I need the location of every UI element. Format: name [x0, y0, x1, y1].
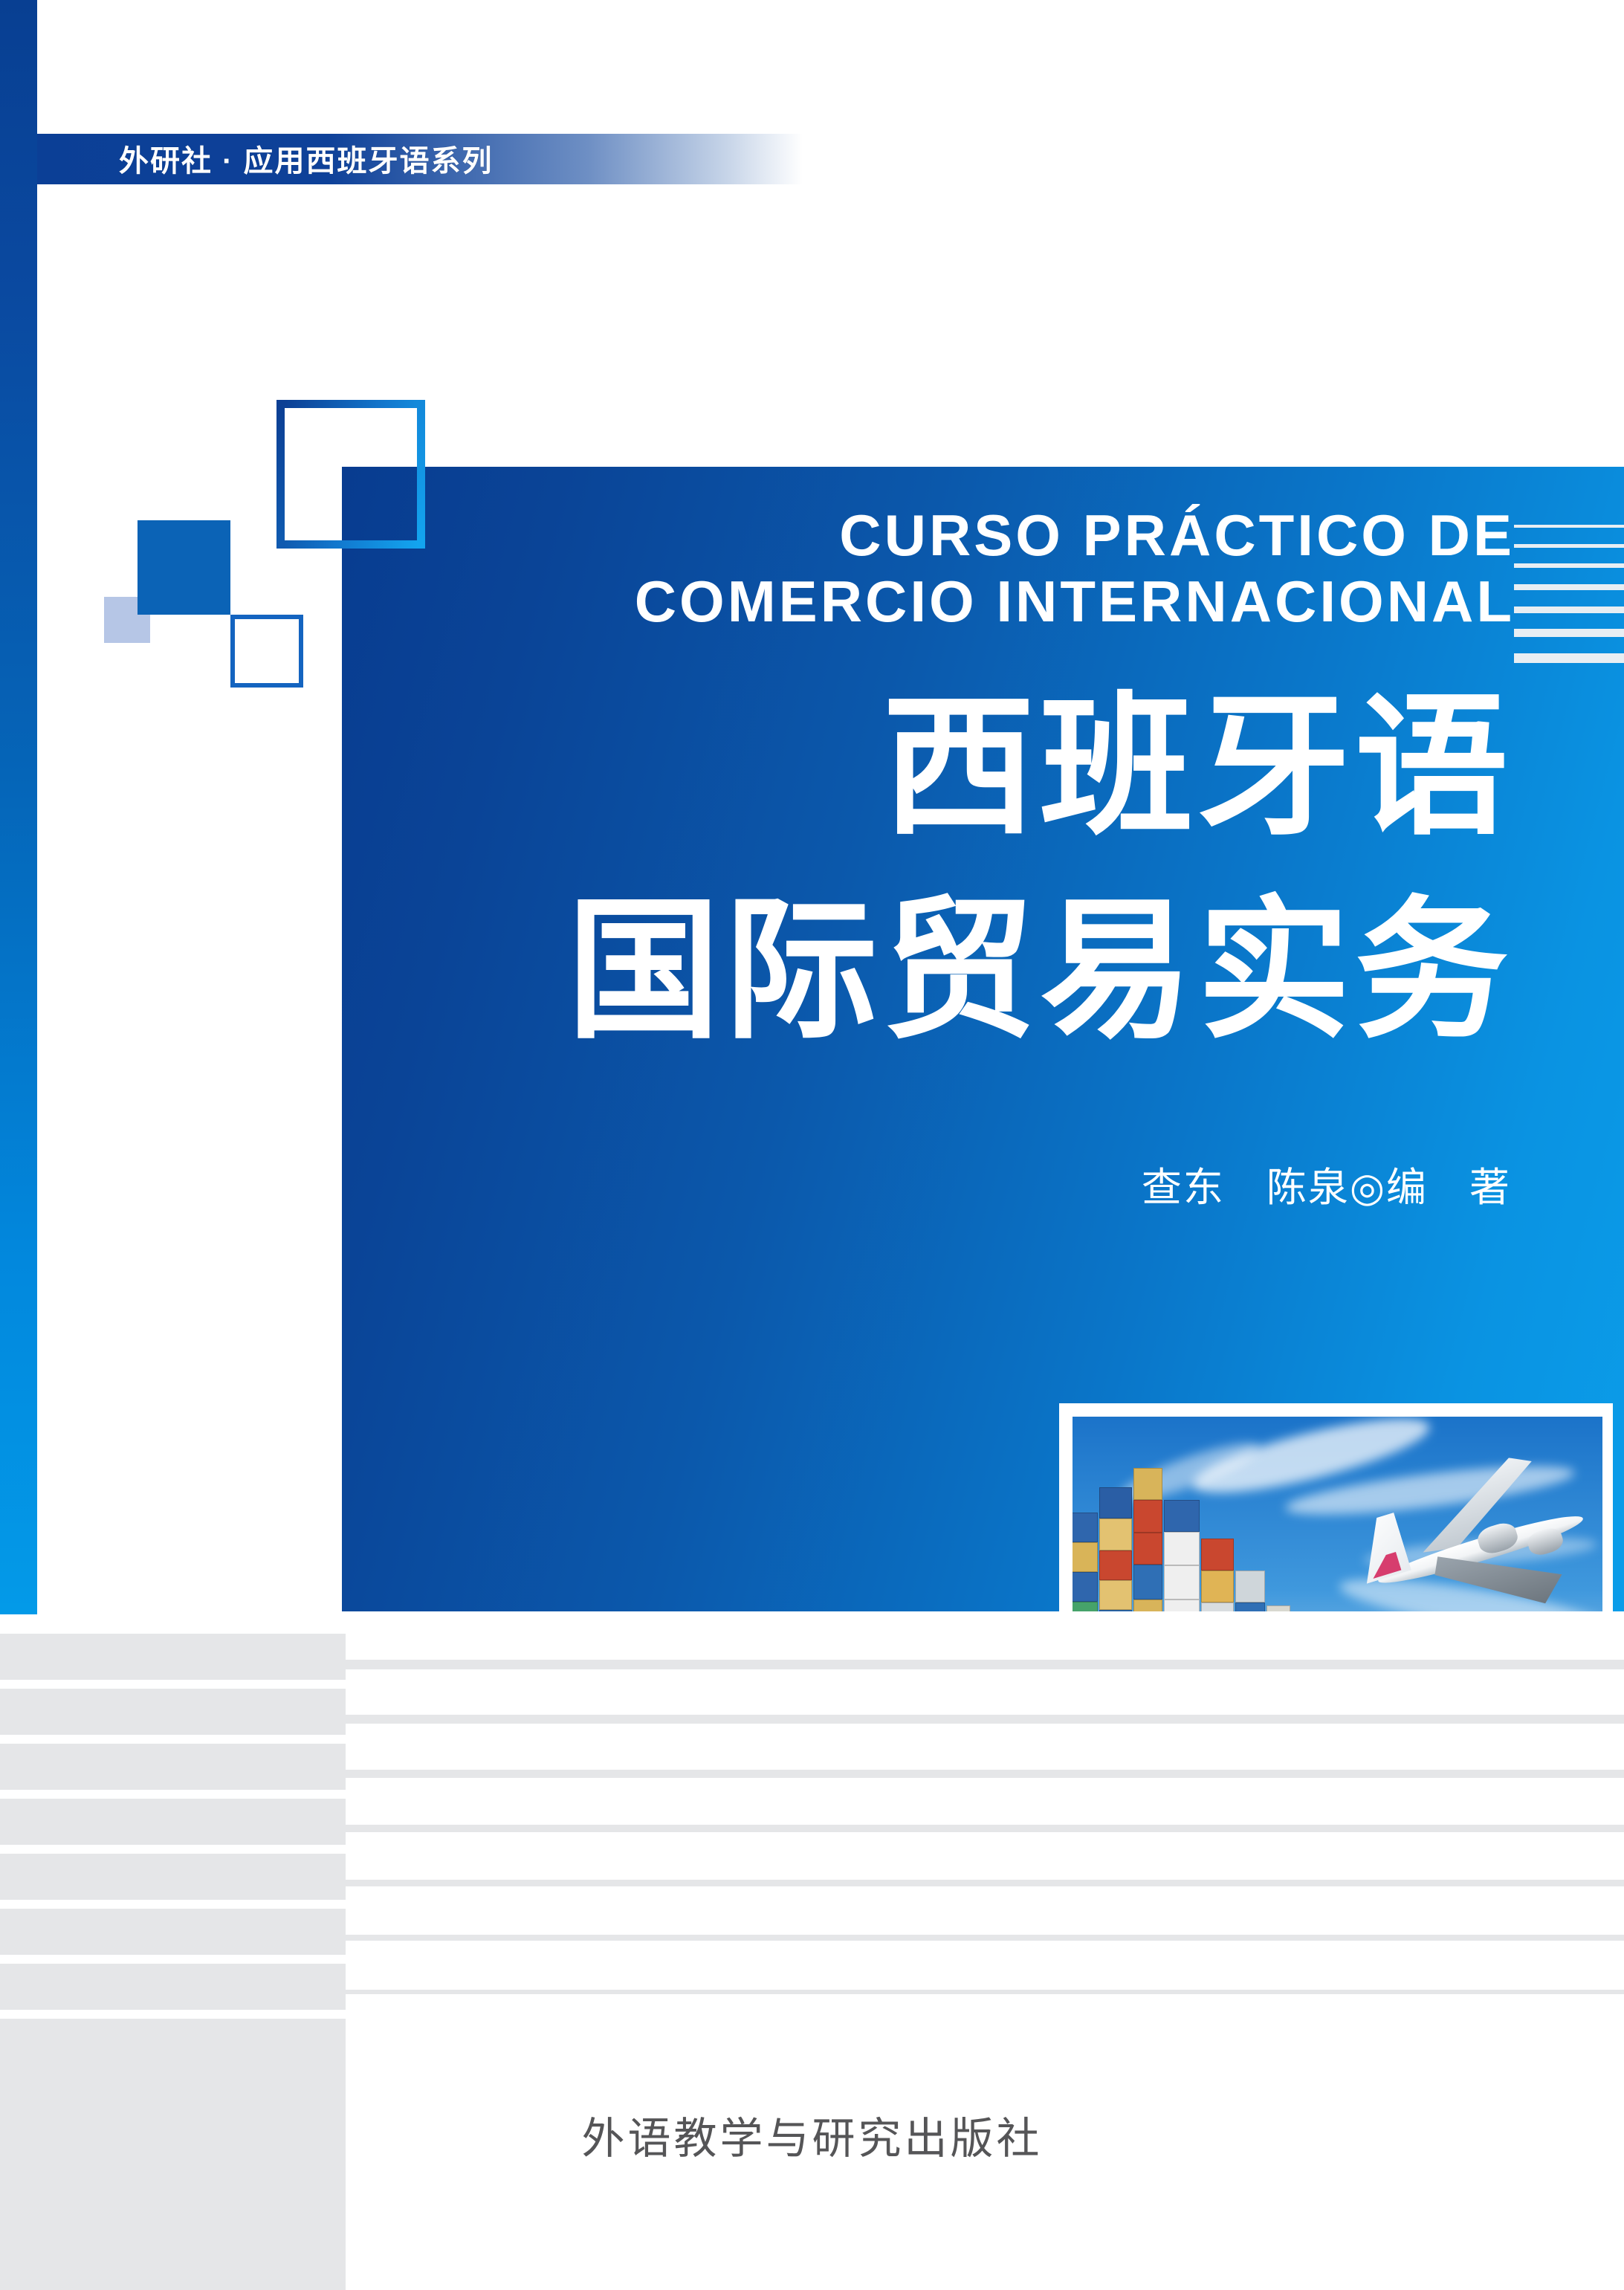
stripe-line — [346, 1770, 1624, 1778]
series-label: 外研社 · 应用西班牙语系列 — [119, 137, 494, 180]
container-stack — [1133, 1468, 1163, 1611]
chinese-title: 西班牙语 国际贸易实务 — [342, 666, 1624, 1073]
spanish-title: CURSO PRÁCTICO DE COMERCIO INTERNACIONAL — [355, 502, 1515, 635]
square-outline-large-decor — [276, 400, 425, 549]
square-outline-small-decor — [230, 615, 303, 688]
container-stack — [1164, 1500, 1200, 1611]
container-stack — [1099, 1487, 1132, 1611]
stripe-line — [346, 1825, 1624, 1832]
stripe-line — [346, 1660, 1624, 1669]
container-stack — [1266, 1605, 1290, 1611]
book-cover: 外研社 · 应用西班牙语系列 CURSO PRÁCTICO DE COMERCI… — [0, 0, 1624, 2290]
rule-stack-decor — [1514, 525, 1624, 663]
square-solid-mid-decor — [138, 520, 230, 615]
series-band: 外研社 · 应用西班牙语系列 — [37, 134, 803, 184]
left-gradient-bar — [0, 0, 37, 1614]
stripe-line — [346, 1990, 1624, 1994]
container-stack — [1073, 1513, 1098, 1611]
container-stack — [1235, 1571, 1265, 1611]
stripe-line — [346, 1935, 1624, 1941]
container-ship — [1073, 1474, 1359, 1611]
stripe-line — [346, 1715, 1624, 1724]
author-line: 查东 陈泉◎编 著 — [342, 1154, 1624, 1213]
gray-column-decor — [0, 1634, 346, 2290]
publisher-name: 外语教学与研究出版社 — [0, 2103, 1624, 2166]
stripe-line — [346, 1880, 1624, 1886]
title-panel: CURSO PRÁCTICO DE COMERCIO INTERNACIONAL… — [342, 467, 1624, 1611]
logistics-photo — [1073, 1417, 1602, 1611]
bottom-stripe-zone — [0, 1613, 1624, 2290]
cover-photo-frame — [1059, 1403, 1613, 1611]
container-stack — [1201, 1539, 1234, 1611]
